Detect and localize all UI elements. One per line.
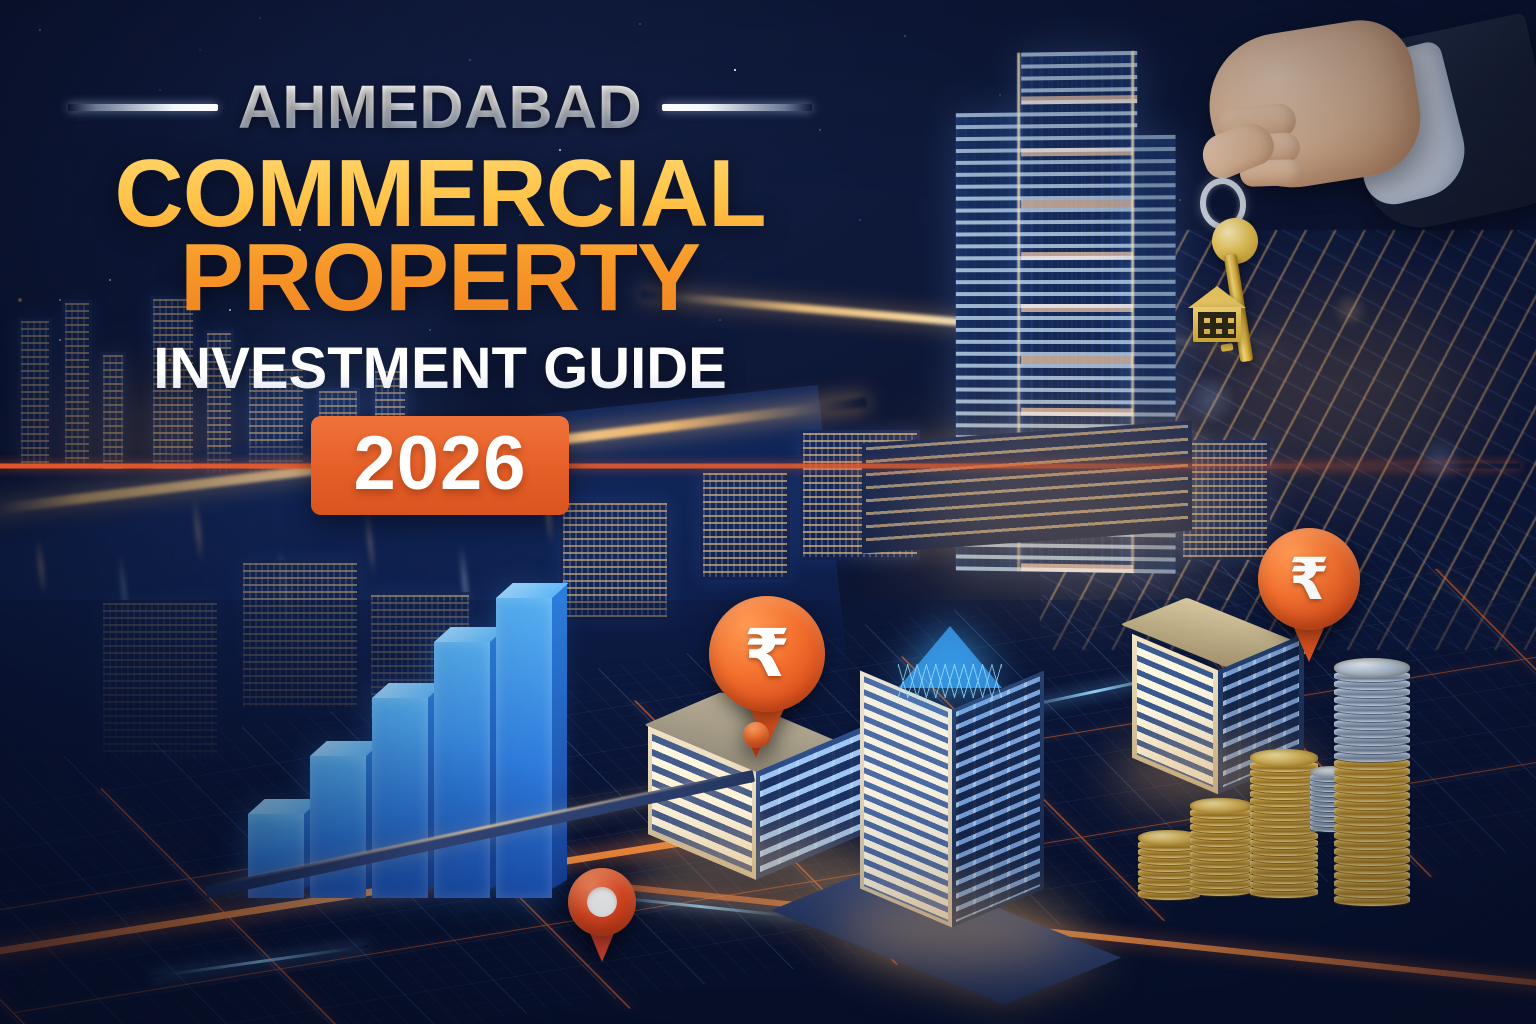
pyramid-roof-mesh xyxy=(898,664,1002,698)
kicker-row: AHMEDABAD xyxy=(0,72,880,142)
left-rule-decoration xyxy=(68,104,218,111)
skyscraper-podium xyxy=(862,420,1192,553)
key-bit xyxy=(1221,343,1234,352)
chart-bar xyxy=(372,698,428,898)
headline: COMMERCIAL PROPERTY xyxy=(0,150,880,323)
map-pin-roof[interactable] xyxy=(743,722,769,758)
title-block: AHMEDABAD COMMERCIAL PROPERTY INVESTMENT… xyxy=(0,72,880,515)
city-name: AHMEDABAD xyxy=(238,72,642,142)
house-body xyxy=(1193,307,1241,342)
pin-head xyxy=(743,722,769,748)
rupee-icon: ₹ xyxy=(744,621,790,687)
pin-center-dot xyxy=(587,887,617,917)
coin-stack xyxy=(1250,726,1318,898)
year-underline-decoration xyxy=(0,463,1520,468)
hand-holding-keys xyxy=(1176,10,1536,430)
year-row: 2026 xyxy=(0,416,880,516)
house-keychain-icon xyxy=(1188,286,1246,342)
house-roof xyxy=(1188,286,1246,308)
pin-head: ₹ xyxy=(709,596,825,712)
coin-stack xyxy=(1334,628,1410,906)
tower-face-left xyxy=(860,670,952,927)
coin-stack xyxy=(1190,784,1252,896)
central-glass-tower xyxy=(846,630,1046,960)
headline-line-2: PROPERTY xyxy=(0,234,880,322)
rupee-icon: ₹ xyxy=(1289,550,1329,608)
poster-canvas: ₹ ₹ xyxy=(0,0,1536,1024)
map-pin-rupee-right[interactable]: ₹ xyxy=(1258,528,1360,662)
year-badge: 2026 xyxy=(311,416,568,516)
chart-bar xyxy=(434,642,490,898)
pin-head: ₹ xyxy=(1258,528,1360,630)
year-label: 2026 xyxy=(353,424,526,504)
right-rule-decoration xyxy=(662,104,812,111)
chart-bar xyxy=(496,598,552,898)
subheadline: INVESTMENT GUIDE xyxy=(0,335,880,402)
chart-bar xyxy=(310,756,366,898)
pin-head xyxy=(568,868,636,936)
map-pin-location[interactable] xyxy=(568,868,636,960)
midground-building xyxy=(1180,440,1270,560)
coin-stacks xyxy=(1138,618,1438,918)
tower-face-right xyxy=(952,670,1044,927)
